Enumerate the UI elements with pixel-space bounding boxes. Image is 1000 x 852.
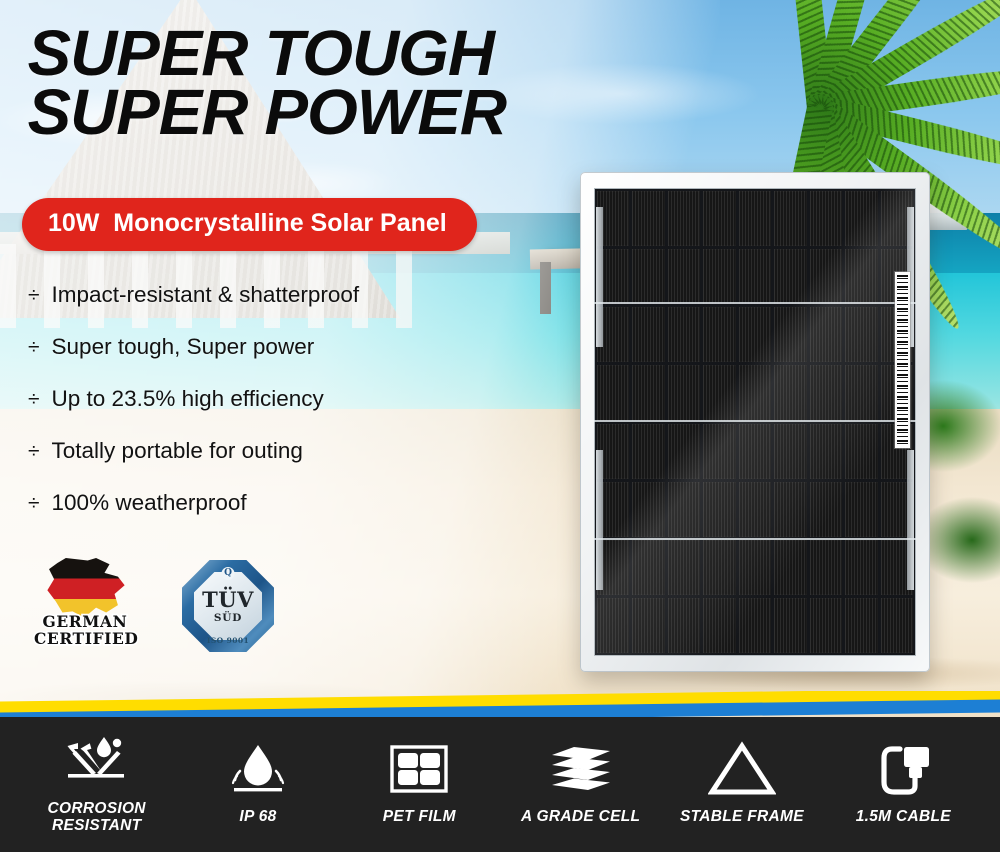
solar-cell-grid (594, 188, 916, 656)
solar-cell (810, 365, 842, 420)
solar-cell (810, 249, 842, 304)
water-drop-icon (221, 737, 295, 799)
divide-marker-icon: ÷ (28, 388, 40, 412)
tuv-inner: TÜV SÜD (194, 572, 262, 640)
solar-cell (632, 540, 664, 595)
solar-cell (739, 307, 771, 362)
solar-cell (810, 307, 842, 362)
solar-cell (739, 249, 771, 304)
accent-stripe (0, 691, 1000, 717)
solar-cell (739, 482, 771, 537)
corrosion-resistant-icon (60, 729, 134, 791)
solar-cell (810, 482, 842, 537)
solar-cell (668, 424, 700, 479)
list-item: ÷ Totally portable for outing (28, 438, 458, 464)
solar-cell (845, 482, 877, 537)
solar-cell (703, 424, 735, 479)
solar-cell (632, 249, 664, 304)
solar-cell (845, 598, 877, 653)
list-item-label: Totally portable for outing (52, 438, 303, 464)
solar-cell (668, 307, 700, 362)
list-item-label: Up to 23.5% high efficiency (52, 386, 324, 412)
solar-cell (668, 191, 700, 246)
feature-label: STABLE FRAME (680, 808, 804, 825)
certification-badges: GERMAN CERTIFIED TÜV SÜD Q ISO 9001 (34, 558, 274, 654)
solar-cell (845, 191, 877, 246)
solar-cell (703, 191, 735, 246)
feature-corrosion-resistant: CORROSION RESISTANT (22, 729, 172, 835)
solar-cell (845, 249, 877, 304)
solar-cell (845, 424, 877, 479)
triangle-frame-icon (708, 737, 776, 799)
feature-list: ÷ Impact-resistant & shatterproof ÷ Supe… (28, 282, 458, 542)
solar-cell (774, 191, 806, 246)
solar-cell (810, 540, 842, 595)
solar-cell (632, 424, 664, 479)
solar-panel-product-image (580, 172, 930, 672)
solar-cell (739, 540, 771, 595)
feature-label: IP 68 (239, 808, 276, 825)
solar-cell (597, 365, 629, 420)
tuv-sublabel: SÜD (214, 612, 242, 624)
product-name-badge: 10W Monocrystalline Solar Panel (22, 198, 477, 251)
solar-cell (703, 307, 735, 362)
feature-label: PET FILM (383, 808, 456, 825)
stacked-layers-icon (544, 737, 618, 799)
solar-cell (668, 482, 700, 537)
list-item: ÷ 100% weatherproof (28, 490, 458, 516)
solar-cell (703, 482, 735, 537)
solar-cell (632, 191, 664, 246)
solar-cell (703, 249, 735, 304)
solar-cell (881, 598, 913, 653)
solar-cell (739, 598, 771, 653)
feature-label: CORROSION RESISTANT (48, 800, 146, 835)
solar-cell (703, 540, 735, 595)
solar-cell (774, 249, 806, 304)
feature-a-grade-cell: A GRADE CELL (506, 737, 656, 825)
feature-label: A GRADE CELL (521, 808, 640, 825)
solar-cell (774, 307, 806, 362)
headline-line-1: SUPER TOUGH (28, 24, 681, 83)
solar-cell (597, 598, 629, 653)
solar-cell (810, 424, 842, 479)
list-item-label: Super tough, Super power (52, 334, 315, 360)
solar-cell (774, 424, 806, 479)
tuv-label: TÜV (202, 589, 254, 610)
solar-cell (632, 365, 664, 420)
page-title: SUPER TOUGH SUPER POWER (28, 24, 681, 142)
solar-cell (845, 365, 877, 420)
product-banner: SUPER TOUGH SUPER POWER 10W Monocrystall… (0, 0, 1000, 852)
headline-line-2: SUPER POWER (28, 83, 681, 142)
solar-cell (810, 598, 842, 653)
solar-cell (668, 249, 700, 304)
solar-cell (632, 307, 664, 362)
feature-bar: CORROSION RESISTANT IP 68 (0, 717, 1000, 852)
divide-marker-icon: ÷ (28, 336, 40, 360)
barcode-label (895, 272, 910, 448)
german-certified-badge: GERMAN CERTIFIED (34, 558, 136, 654)
quality-mark-icon: Q (222, 567, 235, 580)
solar-cell (810, 191, 842, 246)
divide-marker-icon: ÷ (28, 440, 40, 464)
feature-stable-frame: STABLE FRAME (667, 737, 817, 825)
solar-cell (774, 482, 806, 537)
germany-map-icon (44, 558, 128, 620)
solar-cell (668, 540, 700, 595)
list-item: ÷ Up to 23.5% high efficiency (28, 386, 458, 412)
feature-pet-film: PET FILM (344, 737, 494, 825)
solar-cell (703, 598, 735, 653)
solar-cell (668, 598, 700, 653)
list-item: ÷ Impact-resistant & shatterproof (28, 282, 458, 308)
solar-cell (774, 365, 806, 420)
solar-cell (703, 365, 735, 420)
pet-film-grid-icon (387, 737, 451, 799)
feature-cable: 1.5M CABLE (828, 737, 978, 825)
solar-cell (739, 191, 771, 246)
solar-cell (739, 424, 771, 479)
cable-plug-icon (870, 737, 936, 799)
feature-ip68: IP 68 (183, 737, 333, 825)
feature-label: 1.5M CABLE (856, 808, 951, 825)
solar-cell (668, 365, 700, 420)
solar-cell (632, 598, 664, 653)
solar-cell (774, 598, 806, 653)
solar-cell (739, 365, 771, 420)
divide-marker-icon: ÷ (28, 492, 40, 516)
divide-marker-icon: ÷ (28, 284, 40, 308)
iso-label: ISO 9001 (207, 636, 249, 645)
list-item-label: Impact-resistant & shatterproof (52, 282, 360, 308)
tuv-sud-badge: TÜV SÜD Q ISO 9001 (182, 560, 274, 652)
solar-cell (632, 482, 664, 537)
solar-cell (845, 307, 877, 362)
solar-cell (774, 540, 806, 595)
list-item-label: 100% weatherproof (52, 490, 247, 516)
german-certified-label: GERMAN CERTIFIED (34, 614, 136, 647)
list-item: ÷ Super tough, Super power (28, 334, 458, 360)
solar-cell (845, 540, 877, 595)
